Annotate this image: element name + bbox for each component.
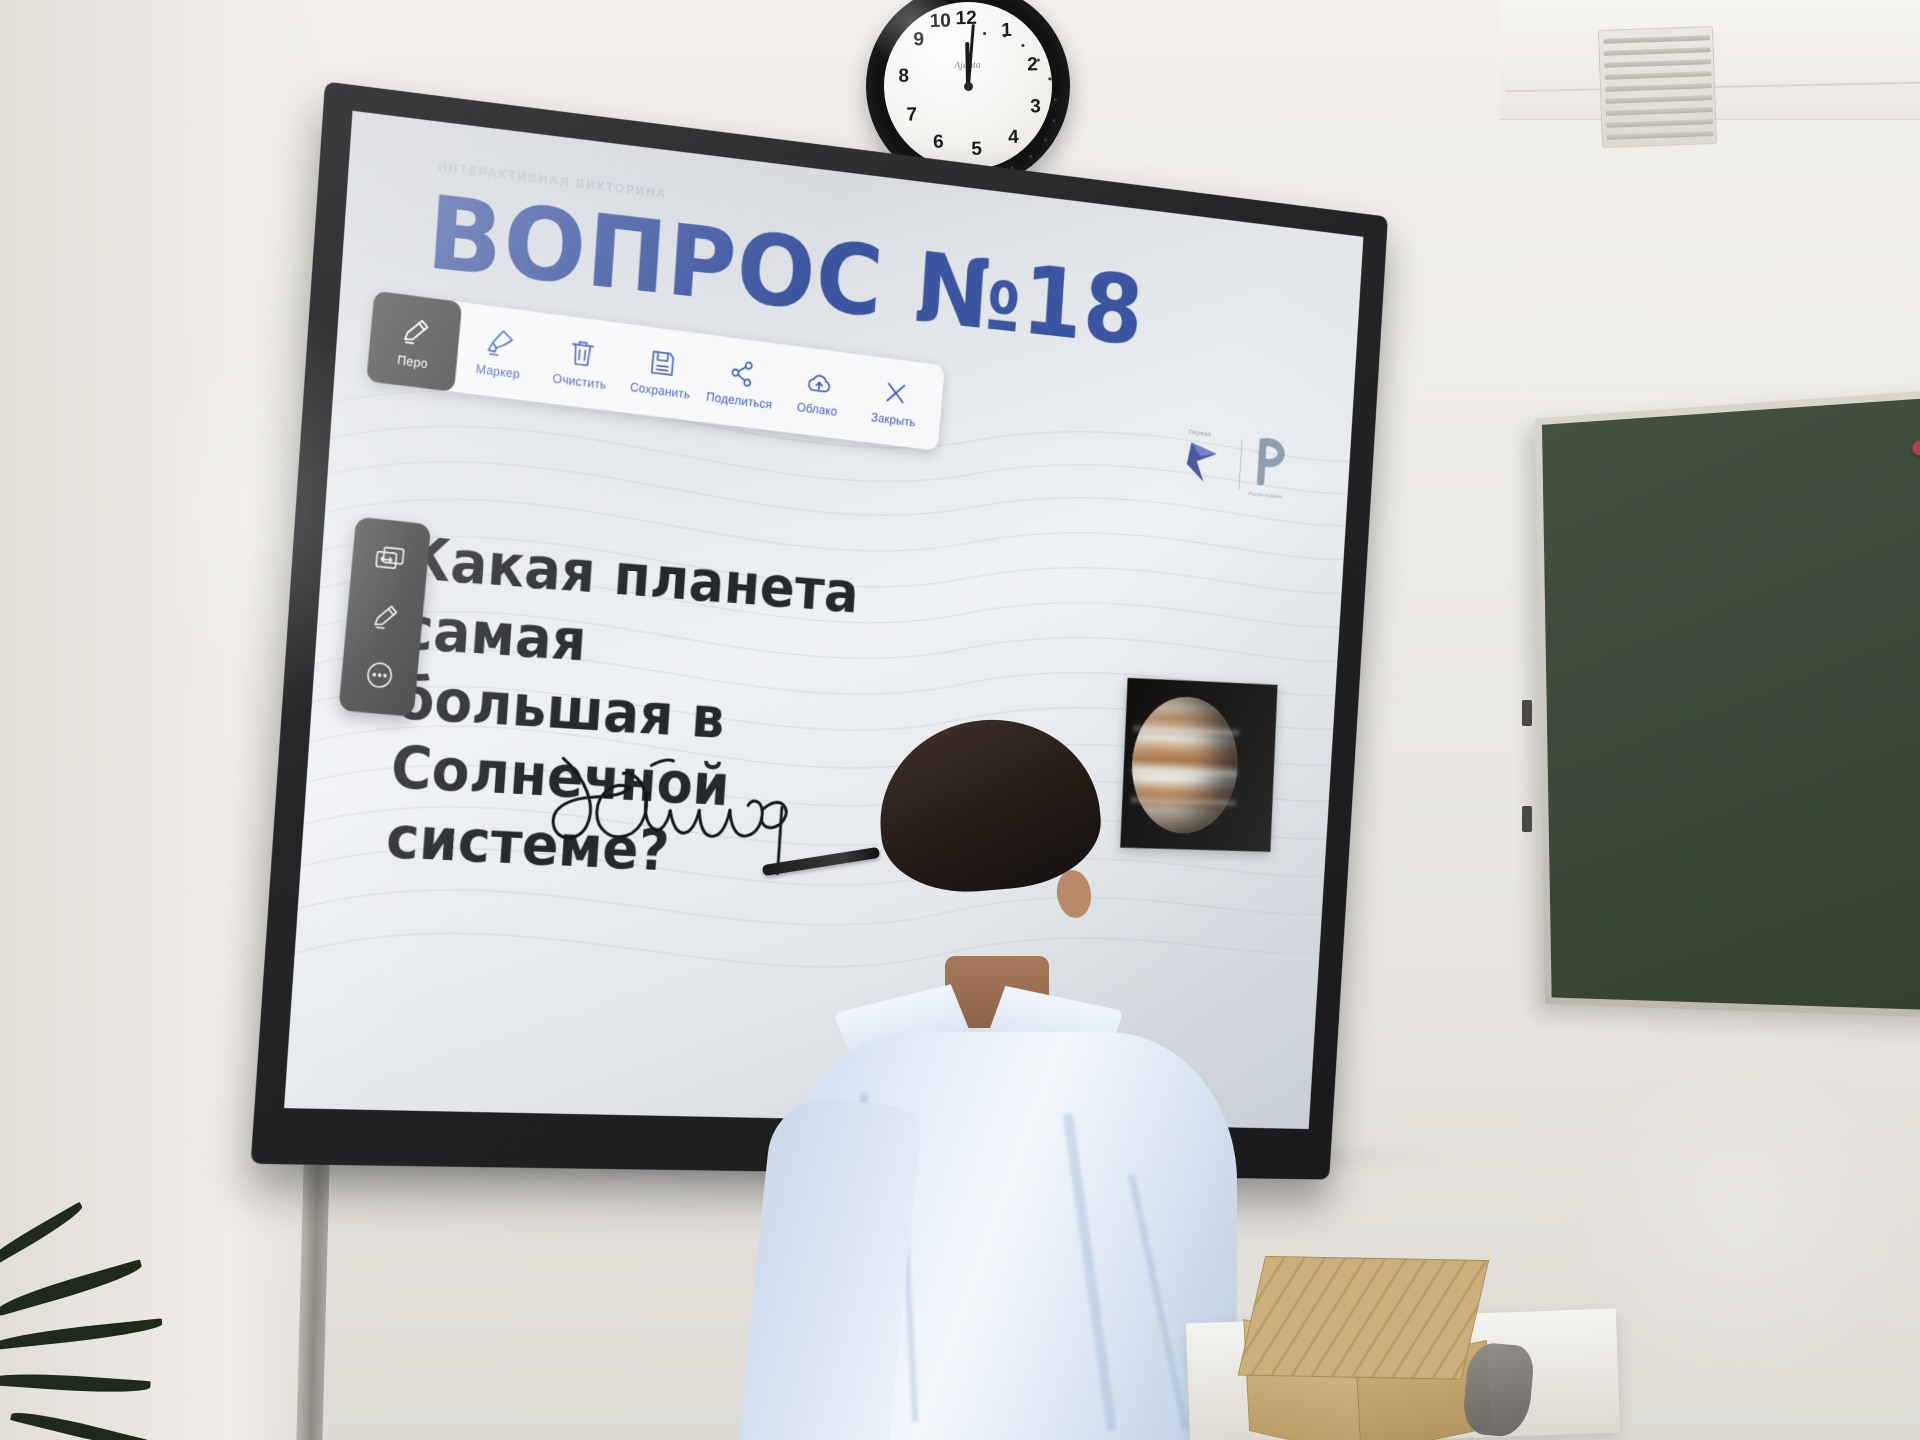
trash-icon xyxy=(567,335,597,369)
clock-numeral: 1 xyxy=(995,20,1018,43)
clock-numeral: 7 xyxy=(900,104,923,127)
clock-numeral: 6 xyxy=(927,132,950,155)
toolbar-label: Очистить xyxy=(552,370,607,391)
toolbar-label: Маркер xyxy=(475,361,520,381)
potted-plant xyxy=(0,1120,240,1440)
logo-group: Первых Росмолодёжь xyxy=(1182,422,1306,507)
clock-numeral: 3 xyxy=(1024,96,1047,119)
logo-divider xyxy=(1239,439,1243,489)
toolbar-label: Закрыть xyxy=(871,409,917,428)
toolbar-item-close[interactable]: Закрыть xyxy=(853,355,936,450)
logo-caption: Росмолодёжь xyxy=(1248,492,1282,501)
board-hook xyxy=(1522,806,1532,832)
toolbar-item-clear[interactable]: Очистить xyxy=(537,313,626,412)
dvizhenie-pervyh-logo: Первых xyxy=(1182,427,1233,495)
share-icon xyxy=(727,357,756,389)
chalkboard-surface xyxy=(1542,398,1920,1011)
toolbar-label: Облако xyxy=(796,399,838,418)
toolbar-label: Поделиться xyxy=(706,389,773,411)
pen-icon xyxy=(368,600,402,635)
clock-numeral: 5 xyxy=(965,139,988,162)
toolbar-label: Сохранить xyxy=(629,379,690,401)
dock-item-windows[interactable] xyxy=(363,531,418,587)
rosmolodezh-logo: Росмолодёжь xyxy=(1248,434,1301,501)
ceiling-vent-icon xyxy=(1598,26,1717,148)
classroom-scene: Ajanta 12 1 2 3 4 5 6 7 8 9 10 xyxy=(0,0,1920,1440)
student-ear xyxy=(1054,868,1094,920)
toolbar-item-cloud[interactable]: Облако xyxy=(776,344,861,440)
toolbar-item-save[interactable]: Сохранить xyxy=(618,324,706,422)
marker-icon xyxy=(484,325,517,360)
close-icon xyxy=(882,377,910,408)
green-chalkboard xyxy=(1535,390,1920,1018)
student xyxy=(795,720,1225,1440)
windows-switch-icon xyxy=(373,543,408,576)
clock-numeral: 4 xyxy=(1002,127,1025,150)
chalkboard-frame xyxy=(1535,390,1920,1018)
dock-item-pen[interactable] xyxy=(358,589,413,645)
dock-item-more[interactable] xyxy=(352,647,407,703)
toolbar-item-pen[interactable]: Перо xyxy=(366,291,462,392)
toolbar-item-share[interactable]: Поделиться xyxy=(698,334,784,431)
board-hook xyxy=(1522,700,1532,726)
toolbar-item-marker[interactable]: Маркер xyxy=(454,302,545,402)
toolbar-label: Перо xyxy=(397,352,429,370)
save-icon xyxy=(648,347,678,379)
model-house xyxy=(1240,1251,1519,1440)
clock-numeral: 2 xyxy=(1021,54,1044,77)
cloud-icon xyxy=(804,368,834,398)
pen-icon xyxy=(398,312,434,349)
house-roof xyxy=(1238,1256,1490,1380)
letter-r-icon xyxy=(1249,434,1292,488)
clock-center-pin xyxy=(963,81,972,90)
more-icon xyxy=(362,656,398,693)
